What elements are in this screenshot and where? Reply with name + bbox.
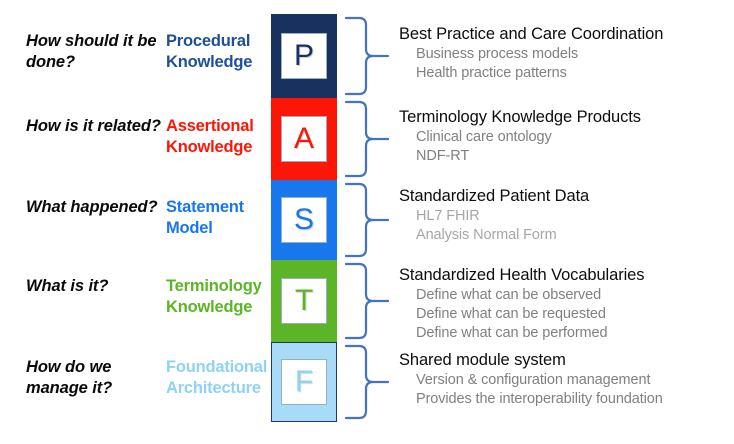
description-item-foundational-0: Version & configuration management — [399, 371, 734, 390]
question-label-assertional: How is it related? — [26, 116, 166, 137]
description-group-foundational: Shared module systemVersion & configurat… — [399, 350, 734, 409]
description-title-terminology: Standardized Health Vocabularies — [399, 265, 734, 286]
curly-brace-icon-terminology — [344, 262, 394, 340]
description-item-procedural-0: Business process models — [399, 45, 734, 64]
layer-letter-procedural: P — [281, 33, 327, 79]
description-item-statement-1: Analysis Normal Form — [399, 226, 734, 245]
curly-brace-icon-procedural — [344, 16, 394, 96]
description-item-assertional-1: NDF-RT — [399, 147, 734, 166]
layer-letter-statement: S — [281, 197, 327, 243]
layer-name-foundational: Foundational Architecture — [166, 357, 274, 399]
description-item-terminology-1: Define what can be requested — [399, 305, 734, 324]
description-item-assertional-0: Clinical care ontology — [399, 128, 734, 147]
layer-letter-assertional: A — [281, 116, 327, 162]
description-group-procedural: Best Practice and Care CoordinationBusin… — [399, 24, 734, 83]
curly-brace-icon-assertional — [344, 100, 394, 178]
layer-name-terminology: Terminology Knowledge — [166, 276, 274, 318]
pastf-layer-diagram: How should it be done?Procedural Knowled… — [0, 0, 734, 444]
description-item-foundational-1: Provides the interoperability foundation — [399, 390, 734, 409]
layer-block-assertional[interactable]: A — [271, 98, 337, 180]
description-title-statement: Standardized Patient Data — [399, 186, 734, 207]
description-title-foundational: Shared module system — [399, 350, 734, 371]
curly-brace-icon-foundational — [344, 344, 394, 420]
description-item-terminology-0: Define what can be observed — [399, 286, 734, 305]
layer-block-procedural[interactable]: P — [271, 14, 337, 98]
layer-name-statement: Statement Model — [166, 197, 274, 239]
layer-block-statement[interactable]: S — [271, 180, 337, 260]
description-item-terminology-2: Define what can be performed — [399, 324, 734, 343]
layer-name-assertional: Assertional Knowledge — [166, 116, 274, 158]
question-label-foundational: How do we manage it? — [26, 357, 166, 399]
description-item-statement-0: HL7 FHIR — [399, 207, 734, 226]
question-label-terminology: What is it? — [26, 276, 166, 297]
description-item-procedural-1: Health practice patterns — [399, 64, 734, 83]
question-label-statement: What happened? — [26, 197, 166, 218]
layer-letter-foundational: F — [281, 359, 327, 405]
description-group-statement: Standardized Patient DataHL7 FHIRAnalysi… — [399, 186, 734, 245]
description-title-assertional: Terminology Knowledge Products — [399, 107, 734, 128]
description-title-procedural: Best Practice and Care Coordination — [399, 24, 734, 45]
layer-letter-terminology: T — [281, 278, 327, 324]
layer-block-terminology[interactable]: T — [271, 260, 337, 342]
description-group-assertional: Terminology Knowledge ProductsClinical c… — [399, 107, 734, 166]
layer-block-foundational[interactable]: F — [271, 342, 337, 422]
curly-brace-icon-statement — [344, 182, 394, 258]
question-label-procedural: How should it be done? — [26, 31, 166, 73]
description-group-terminology: Standardized Health VocabulariesDefine w… — [399, 265, 734, 343]
layer-name-procedural: Procedural Knowledge — [166, 31, 274, 73]
